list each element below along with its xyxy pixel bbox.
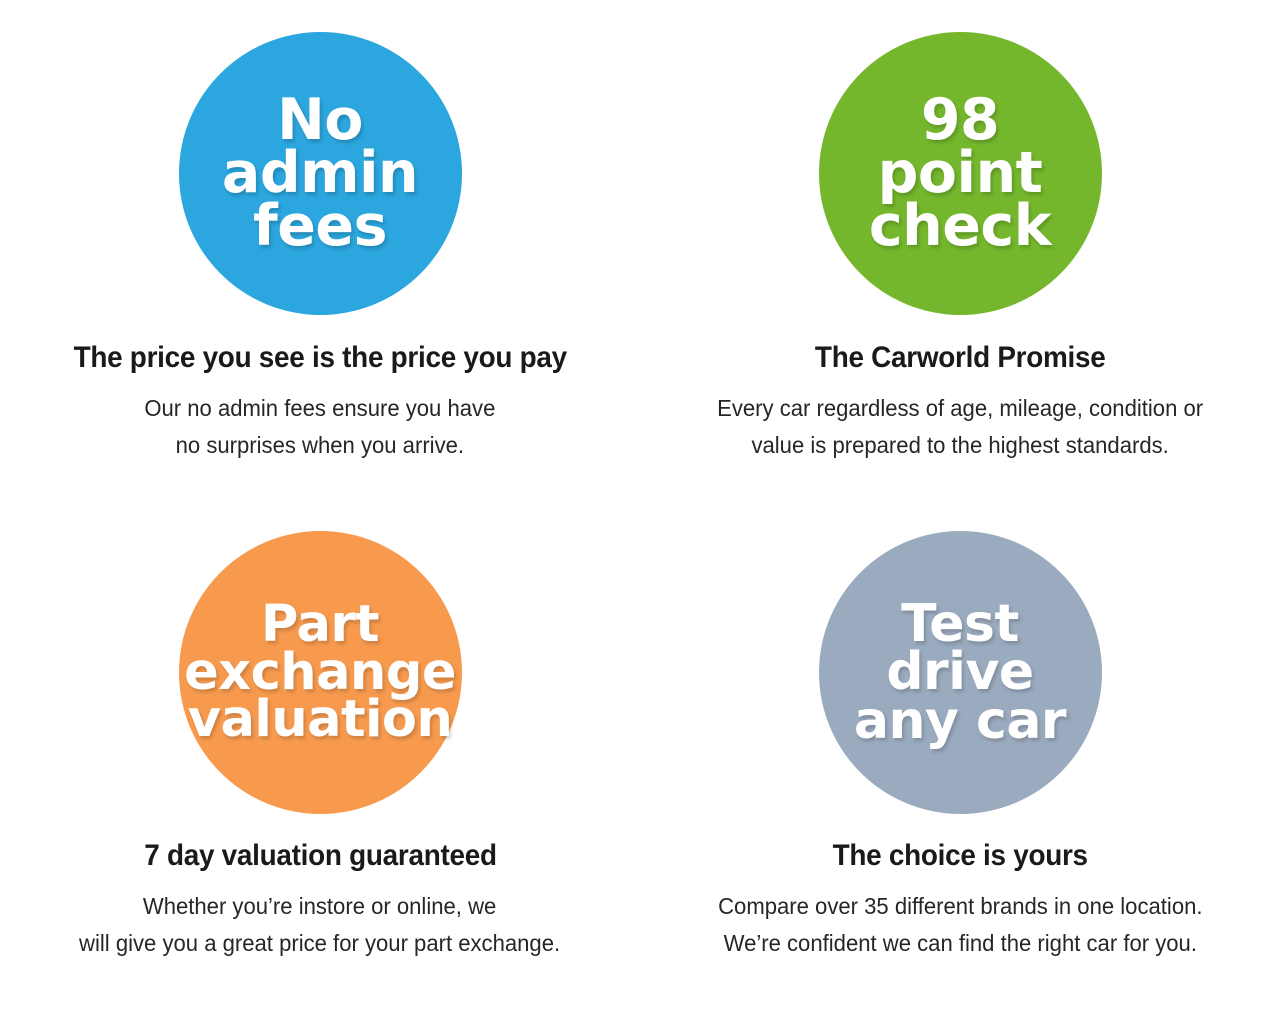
no-admin-fees-circle-badge: No admin fees	[179, 32, 462, 315]
part-exchange-valuation-circle-badge: Part exchange valuation	[179, 531, 462, 814]
badge-line-1: Test	[901, 600, 1019, 648]
usp-body-text: Every car regardless of age, mileage, co…	[717, 390, 1203, 465]
badge-line-2: drive	[886, 648, 1033, 696]
usp-body-text: Our no admin fees ensure you have no sur…	[144, 390, 495, 465]
badge-line-3: check	[869, 200, 1051, 253]
usp-grid: No admin fees The price you see is the p…	[0, 0, 1280, 1024]
usp-heading: The price you see is the price you pay	[73, 341, 566, 374]
usp-card-test-drive-any-car: Test drive any car The choice is yours C…	[640, 504, 1280, 996]
usp-heading: 7 day valuation guaranteed	[144, 839, 496, 872]
98-point-check-circle-badge: 98 point check	[819, 32, 1102, 315]
usp-body-text: Whether you’re instore or online, we wil…	[79, 888, 560, 963]
usp-heading: The Carworld Promise	[815, 341, 1106, 374]
badge-line-2: exchange	[184, 649, 456, 696]
badge-line-3: any car	[854, 697, 1066, 745]
badge-line-1: Part	[261, 601, 379, 648]
test-drive-any-car-circle-badge: Test drive any car	[819, 531, 1102, 814]
usp-body-text: Compare over 35 different brands in one …	[718, 888, 1202, 963]
usp-card-no-admin-fees: No admin fees The price you see is the p…	[0, 12, 640, 504]
usp-card-part-exchange-valuation: Part exchange valuation 7 day valuation …	[0, 504, 640, 996]
usp-heading: The choice is yours	[832, 839, 1087, 872]
badge-line-3: valuation	[188, 696, 453, 743]
badge-line-3: fees	[253, 200, 387, 253]
usp-card-98-point-check: 98 point check The Carworld Promise Ever…	[640, 12, 1280, 504]
